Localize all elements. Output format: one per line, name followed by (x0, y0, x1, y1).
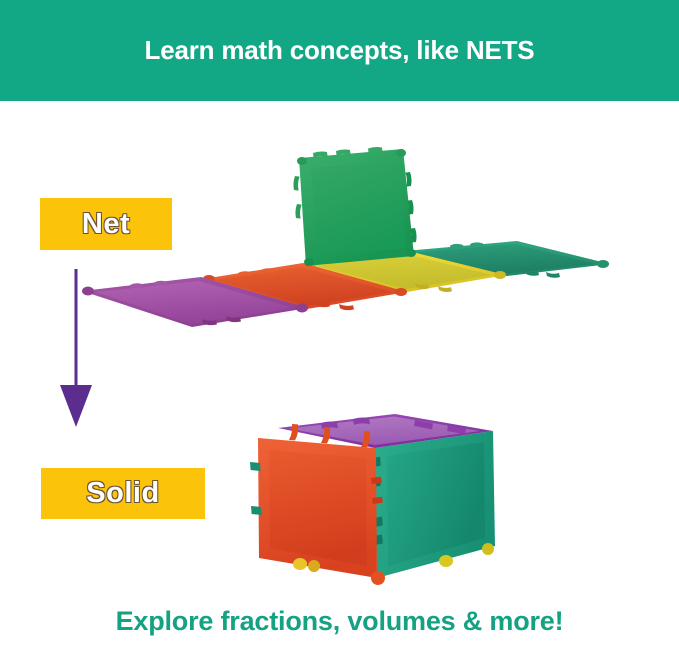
page-title: Learn math concepts, like NETS (145, 35, 535, 66)
downward-arrow-icon (58, 269, 102, 429)
solid-illustration (245, 406, 505, 591)
illustration-stage: Net Solid (0, 101, 679, 596)
label-chip-solid-text: Solid (86, 479, 159, 508)
solid-face-right (372, 431, 495, 578)
header-banner: Learn math concepts, like NETS (0, 0, 679, 101)
footer-tagline: Explore fractions, volumes & more! (0, 596, 679, 646)
label-chip-net-text: Net (82, 210, 130, 239)
solid-face-front (250, 424, 385, 585)
footer-tagline-text: Explore fractions, volumes & more! (116, 606, 564, 637)
label-chip-net: Net (40, 198, 172, 250)
net-panel-green-upright (293, 147, 416, 266)
label-chip-solid: Solid (41, 468, 205, 519)
